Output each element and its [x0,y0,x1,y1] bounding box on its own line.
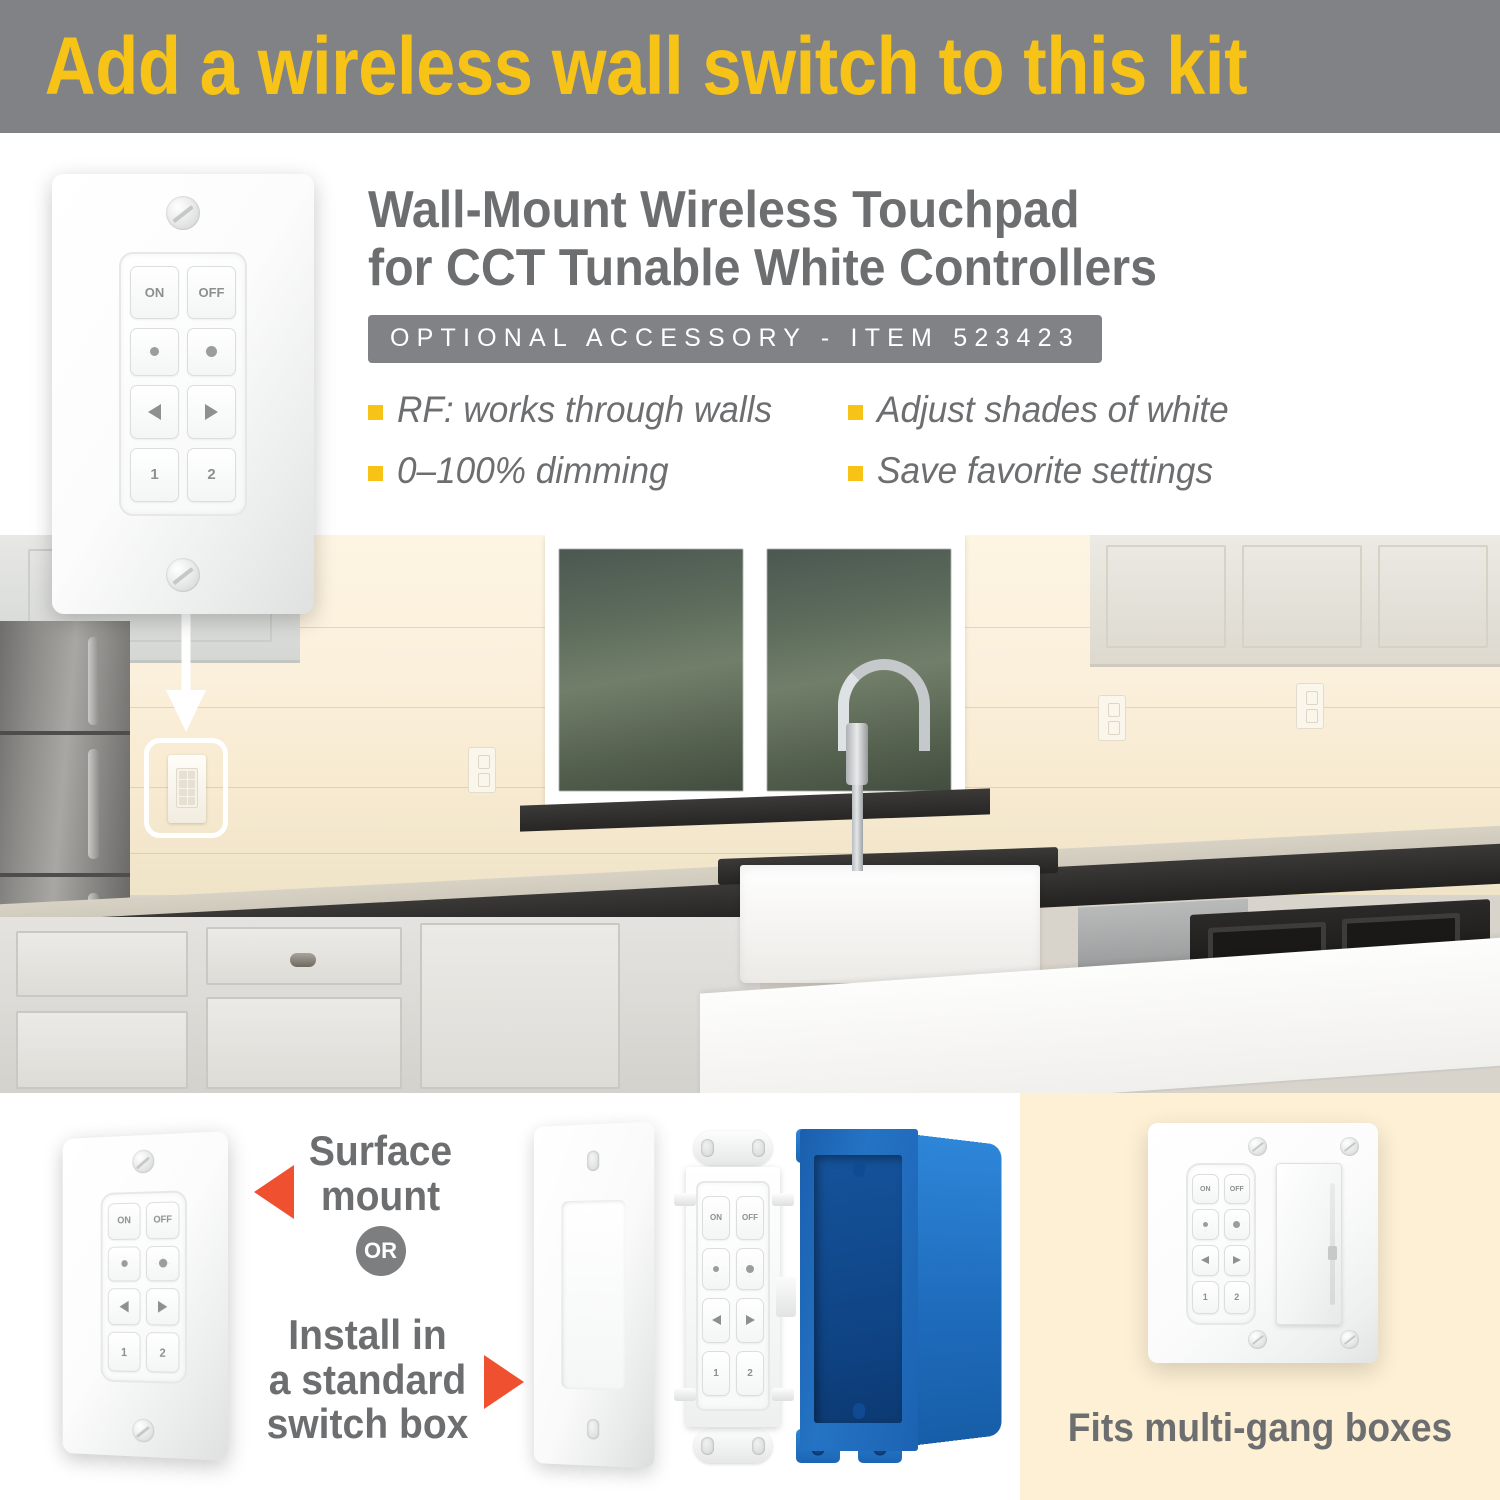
product-title-line2: for CCT Tunable White Controllers [368,239,1391,297]
screw-hole-icon [587,1150,599,1171]
key-dim-up[interactable] [187,328,236,377]
feature-label: Adjust shades of white [877,389,1229,431]
screw-icon [1340,1330,1359,1349]
decorator-wallplate [534,1121,654,1468]
box-side-wall [918,1135,1001,1445]
key-dim-up[interactable] [146,1245,179,1280]
sun-large-icon [158,1259,166,1268]
device-body: ON OFF 1 2 [686,1167,780,1427]
left-arrow-icon [712,1315,721,1325]
key-arrow-right[interactable] [187,385,236,439]
right-arrow-icon [205,404,218,420]
bullet-square-icon [848,405,863,420]
decorator-opening [561,1200,625,1391]
box-cavity [814,1155,902,1423]
screw-icon [132,1149,154,1173]
header-banner: Add a wireless wall switch to this kit [0,0,1500,133]
key-on[interactable]: ON [108,1203,141,1240]
keypad-grid: ON OFF 1 2 [130,266,236,502]
sun-small-icon [121,1260,127,1267]
right-arrow-icon [746,1315,755,1325]
keypad-frame: ON OFF 1 2 [1186,1163,1256,1325]
keypad-grid: ON OFF 1 2 [1192,1174,1250,1314]
left-arrow-icon [148,404,161,420]
key-arrow-right[interactable] [736,1298,764,1343]
key-preset-2[interactable]: 2 [736,1351,764,1397]
keypad-frame: ON OFF 1 2 [119,252,247,516]
mounting-strap-ear [694,1429,772,1463]
wall-outlet [468,747,496,793]
key-preset-2[interactable]: 2 [187,448,236,503]
blue-electrical-box [800,1129,1012,1463]
screw-icon [166,558,200,592]
bullet-square-icon [368,405,383,420]
box-screw-hole [853,1161,865,1177]
surface-mount-line2: mount [285,1174,476,1219]
sun-large-icon [1233,1221,1240,1228]
key-off[interactable]: OFF [146,1201,179,1239]
key-on[interactable]: ON [1192,1174,1219,1204]
keypad-grid: ON OFF 1 2 [108,1201,180,1372]
lower-cabinets [0,917,760,1093]
screw-icon [1248,1137,1267,1156]
key-off[interactable]: OFF [187,266,236,319]
mounting-options-section: ON OFF 1 2 Surface mount OR Install in a… [0,1093,1500,1500]
install-line3: switch box [258,1402,477,1447]
sun-small-icon [1203,1222,1208,1227]
wall-outlet [1098,695,1126,741]
sun-small-icon [150,347,159,356]
key-arrow-right[interactable] [1224,1245,1251,1276]
key-off[interactable]: OFF [1224,1174,1251,1204]
multi-gang-caption: Fits multi-gang boxes [1037,1406,1483,1451]
sun-large-icon [206,346,217,357]
key-on[interactable]: ON [702,1196,730,1240]
key-preset-2[interactable]: 2 [1224,1281,1251,1314]
right-arrow-icon [158,1301,167,1313]
feature-item: RF: works through walls [368,389,848,431]
key-preset-1[interactable]: 1 [1192,1281,1219,1314]
key-preset-1[interactable]: 1 [702,1351,730,1397]
device-post [772,1193,794,1206]
surface-mount-line1: Surface [285,1129,476,1174]
hero-touchpad-wallplate: ON OFF 1 2 [52,174,314,614]
feature-label: Save favorite settings [877,450,1213,492]
key-arrow-right[interactable] [146,1288,179,1326]
sun-large-icon [746,1265,754,1273]
upper-cabinet-right [1090,535,1500,667]
sun-small-icon [713,1266,719,1272]
faucet-head [846,723,868,785]
screw-icon [1248,1330,1267,1349]
key-off[interactable]: OFF [736,1196,764,1240]
left-arrow-icon [1201,1256,1209,1264]
box-front [800,1129,918,1451]
item-number-badge: OPTIONAL ACCESSORY - ITEM 523423 [368,315,1102,363]
right-arrow-icon [1233,1256,1241,1264]
keypad-frame: ON OFF 1 2 [696,1181,770,1411]
wall-outlet [1296,683,1324,729]
product-info-text: Wall-Mount Wireless Touchpad for CCT Tun… [368,181,1468,492]
dimmer-slider[interactable] [1330,1183,1335,1305]
page-title: Add a wireless wall switch to this kit [0,20,1247,114]
arrow-right-icon [484,1355,524,1409]
key-on[interactable]: ON [130,266,179,319]
surface-mount-label: Surface mount OR [278,1129,483,1282]
install-line1: Install in [258,1313,477,1358]
window-pane [559,549,743,791]
install-line2: a standard [258,1358,477,1403]
feature-label: RF: works through walls [397,389,772,431]
key-dim-down[interactable] [1192,1209,1219,1239]
bullet-square-icon [848,466,863,481]
key-dim-up[interactable] [736,1248,764,1291]
keypad-frame: ON OFF 1 2 [101,1190,187,1384]
cabinet-knob [290,953,316,967]
installed-keypad [176,768,198,808]
screw-icon [132,1418,154,1442]
device-post [772,1388,794,1401]
surface-mount-wallplate: ON OFF 1 2 [63,1131,228,1461]
two-gang-wallplate: ON OFF 1 2 [1148,1123,1378,1363]
product-title-line1: Wall-Mount Wireless Touchpad [368,181,1391,239]
device-clip [776,1277,796,1317]
mounting-strap-ear [694,1131,772,1165]
device-post [674,1388,696,1401]
screw-icon [1340,1137,1359,1156]
key-preset-1[interactable]: 1 [108,1332,141,1372]
left-arrow-icon [120,1301,129,1313]
feature-item: 0–100% dimming [368,450,848,492]
screw-hole-icon [587,1419,599,1440]
feature-item: Adjust shades of white [848,389,1468,431]
key-arrow-left[interactable] [1192,1245,1219,1276]
farmhouse-sink [740,865,1040,983]
bracket-mount-touchpad: ON OFF 1 2 [678,1131,788,1463]
key-arrow-left[interactable] [702,1298,730,1343]
dimmer-switch-paddle[interactable] [1276,1163,1342,1325]
or-badge: OR [356,1226,406,1276]
item-number-label: OPTIONAL ACCESSORY - ITEM 523423 [390,324,1080,352]
box-screw-hole [853,1403,865,1419]
key-preset-1[interactable]: 1 [130,448,179,503]
key-arrow-left[interactable] [108,1288,141,1326]
key-dim-down[interactable] [702,1248,730,1291]
key-dim-down[interactable] [130,328,179,377]
feature-list: RF: works through walls Adjust shades of… [368,389,1468,492]
key-dim-up[interactable] [1224,1209,1251,1239]
install-in-box-label: Install in a standard switch box [258,1313,477,1447]
installed-touchpad [168,755,206,823]
device-post [674,1193,696,1206]
feature-label: 0–100% dimming [397,450,669,492]
key-dim-down[interactable] [108,1246,141,1281]
feature-item: Save favorite settings [848,450,1468,492]
bullet-square-icon [368,466,383,481]
keypad-grid: ON OFF 1 2 [702,1196,764,1396]
key-arrow-left[interactable] [130,385,179,439]
key-preset-2[interactable]: 2 [146,1332,179,1373]
screw-icon [166,196,200,230]
